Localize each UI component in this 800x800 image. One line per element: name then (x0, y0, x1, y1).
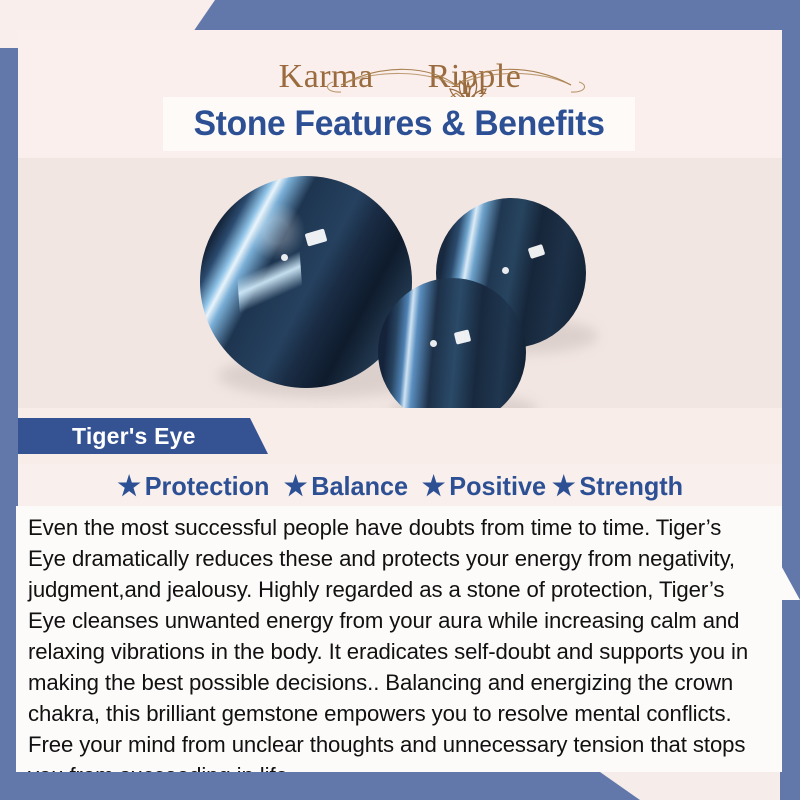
stone-photo-inner (18, 158, 782, 408)
infographic-poster: Karma Ripple Stone Features & Benefits (0, 0, 800, 800)
sphere-glint (502, 267, 509, 274)
sphere-glint (430, 340, 437, 347)
star-icon: ★ (284, 473, 307, 500)
stone-name-label: Tiger's Eye (18, 423, 196, 450)
stone-photo (18, 158, 782, 408)
title-strip: Stone Features & Benefits (163, 97, 635, 151)
stone-name-banner: Tiger's Eye (18, 418, 268, 454)
star-icon: ★ (422, 473, 445, 500)
right-blue-bar (780, 0, 800, 800)
benefit-label: Balance (311, 471, 408, 502)
benefit-item: ★ Balance (284, 471, 408, 502)
benefit-label: Positive (449, 471, 546, 502)
benefits-row: ★ Protection ★ Balance ★ Positive ★ Stre… (18, 464, 782, 508)
description-panel: Even the most successful people have dou… (16, 506, 782, 772)
page-title: Stone Features & Benefits (193, 104, 604, 144)
sphere-highlight (305, 229, 328, 247)
star-icon: ★ (552, 473, 575, 500)
sphere-chatoyance-streak (231, 187, 308, 386)
benefit-item: ★ Protection (117, 471, 269, 502)
sphere-highlight (454, 330, 471, 345)
bottom-blue-wedge (0, 772, 640, 800)
brand-logo-row: Karma Ripple (279, 60, 522, 94)
left-bar-top-gap (0, 0, 18, 48)
sphere-glint (281, 254, 288, 261)
benefit-item: ★ Positive (422, 471, 546, 502)
benefit-label: Strength (579, 471, 683, 502)
benefit-label: Protection (145, 471, 270, 502)
sphere-highlight (528, 244, 546, 259)
description-text: Even the most successful people have dou… (28, 512, 757, 791)
star-icon: ★ (117, 473, 140, 500)
benefit-item: ★ Strength (552, 471, 683, 502)
